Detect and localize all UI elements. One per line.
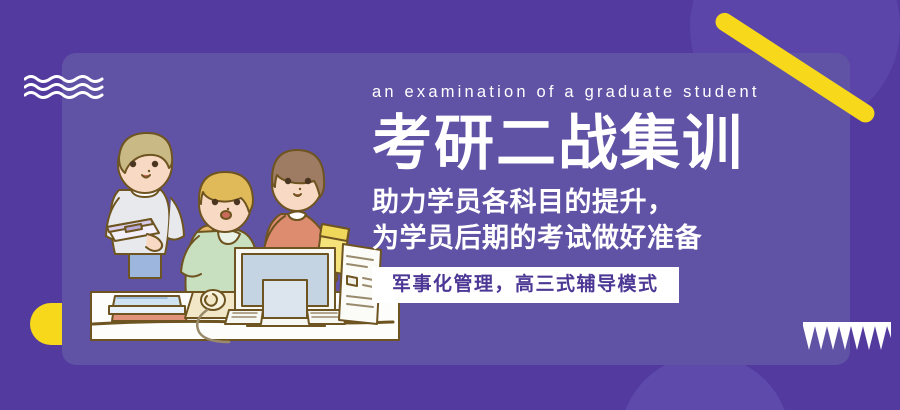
banner-text-block: an examination of a graduate student 考研二… (372, 84, 872, 303)
zigzag-lines-icon (803, 322, 891, 352)
banner-tagline-box: 军事化管理，高三式辅导模式 (372, 267, 679, 303)
wave-lines-icon (24, 74, 108, 100)
banner-subline-1: 助力学员各科目的提升， (372, 184, 872, 220)
book-stack (109, 296, 187, 321)
students-illustration (85, 128, 405, 353)
banner-tagline: 军事化管理，高三式辅导模式 (392, 275, 659, 294)
student-left-figure (106, 133, 184, 278)
banner-eyebrow: an examination of a graduate student (372, 84, 872, 101)
yellow-blob-decoration (30, 303, 62, 345)
banner-headline: 考研二战集训 (372, 113, 872, 174)
banner-subline-2: 为学员后期的考试做好准备 (372, 220, 872, 256)
promo-banner: an examination of a graduate student 考研二… (0, 0, 900, 410)
